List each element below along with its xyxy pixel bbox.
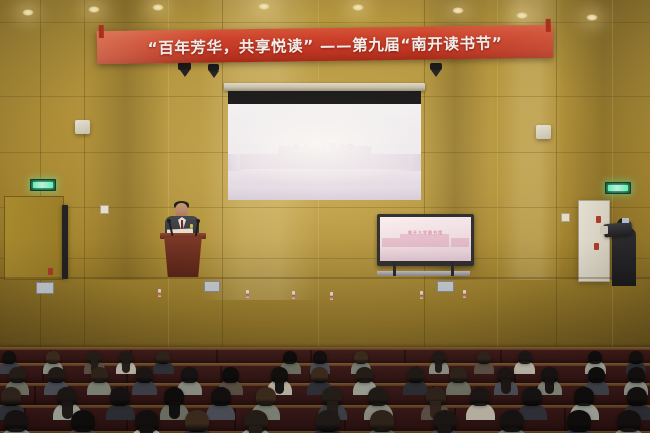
audience-member-head	[628, 367, 645, 383]
ceiling-downlight	[586, 14, 598, 21]
laptop	[36, 282, 54, 294]
audience-member-head	[450, 367, 467, 383]
water-bottle	[158, 289, 161, 297]
microphone-head	[167, 219, 171, 223]
audience-member-head	[311, 367, 328, 383]
monitor-image-building	[382, 238, 400, 247]
audience-member-hair	[122, 360, 130, 372]
audience-member-hair	[438, 426, 451, 433]
exit-sign-glow	[33, 182, 53, 188]
audience-member-hair	[435, 360, 443, 372]
camera-top-light	[622, 218, 629, 223]
ceiling-downlight	[516, 12, 528, 19]
auditorium-photo: “百年芳华，共享悦读” ——第九届“南开读书节” 南开大学图书馆 南开大学图书馆	[0, 0, 650, 433]
audience-member-head	[356, 367, 373, 383]
audience-member-head	[316, 410, 340, 433]
audience-seating	[0, 253, 650, 433]
audience-member-hair	[501, 379, 510, 394]
water-bottle	[330, 292, 333, 300]
laptop	[437, 281, 454, 292]
ceiling-downlight	[88, 6, 100, 13]
microphone-head	[196, 219, 200, 223]
event-banner: “百年芳华，共享悦读” ——第九届“南开读书节”	[97, 25, 553, 64]
audience-member-head	[283, 351, 297, 364]
audience-member-head	[627, 387, 647, 406]
exit-sign-glow	[608, 185, 628, 191]
audience-member-head	[2, 351, 16, 364]
audience-member-head	[629, 351, 643, 364]
screen-mask-band	[228, 91, 421, 104]
audience-member-head	[617, 410, 641, 433]
audience-member-head	[522, 387, 542, 406]
audience-member-head	[354, 351, 368, 364]
monitor-image-building	[451, 238, 469, 247]
wall-outlet	[561, 213, 570, 222]
water-bottle	[463, 290, 466, 298]
stage-spotlight	[178, 62, 191, 70]
banner-text: “百年芳华，共享悦读” ——第九届“南开读书节”	[97, 25, 553, 64]
monitor-overlay-title: 南开大学图书馆	[380, 230, 471, 236]
screen-surface: 南开大学图书馆	[228, 104, 421, 200]
audience-member-head	[574, 387, 594, 406]
audience-member-head	[9, 367, 26, 383]
stage-spotlight	[208, 64, 219, 71]
audience-member-head	[136, 367, 153, 383]
audience-member-head	[256, 387, 276, 406]
audience-member-head	[477, 351, 491, 364]
audience-member-head	[222, 367, 239, 383]
audience-member-head	[181, 367, 198, 383]
audience-member-head	[1, 387, 21, 406]
audience-member-hair	[169, 401, 180, 419]
audience-member-head	[368, 387, 388, 406]
wall-speaker-right	[536, 125, 551, 139]
audience-member-head	[4, 410, 28, 433]
ceiling-downlight	[152, 4, 164, 11]
audience-member-hair	[275, 379, 284, 394]
audience-member-head	[156, 351, 170, 364]
wall-seam-horizontal	[0, 207, 650, 208]
wall-seam-horizontal	[0, 22, 650, 23]
audience-member-hair	[545, 379, 554, 394]
camera-lens-hood	[600, 226, 608, 234]
ceiling-downlight	[22, 9, 34, 16]
audience-member-hair	[140, 426, 153, 433]
fire-extinguisher	[594, 243, 599, 250]
audience-member-head	[211, 387, 231, 406]
water-bottle	[420, 291, 423, 299]
audience-member-head	[185, 410, 209, 433]
laptop	[204, 281, 220, 292]
exit-sign-right	[605, 182, 631, 194]
seat-rail	[0, 347, 650, 350]
screen-glare	[228, 104, 421, 200]
audience-member-head	[588, 351, 602, 364]
audience-member-head	[313, 351, 327, 364]
audience-member-head	[470, 387, 490, 406]
screen-housing	[224, 83, 425, 91]
water-bottle	[292, 291, 295, 299]
exit-sign-left	[30, 179, 56, 191]
audience-member-head	[48, 367, 65, 383]
water-bottle	[246, 290, 249, 298]
ceiling-downlight	[452, 7, 464, 14]
fire-extinguisher	[596, 216, 601, 223]
audience-member-head	[407, 367, 424, 383]
audience-member-head	[110, 387, 130, 406]
audience-member-head	[370, 410, 394, 433]
audience-member-head	[588, 367, 605, 383]
audience-member-head	[518, 351, 532, 364]
projection-screen: 南开大学图书馆	[228, 83, 421, 200]
ceiling-downlight	[352, 4, 364, 11]
audience-member-head	[567, 410, 591, 433]
ceiling-downlight	[258, 3, 270, 10]
stage-spotlight	[430, 63, 442, 70]
seat-divider	[564, 408, 566, 433]
audience-member-head	[46, 351, 60, 364]
audience-member-head	[71, 410, 95, 433]
wall-outlet	[100, 205, 109, 214]
wall-speaker-left	[75, 120, 90, 134]
audience-member-head	[500, 410, 524, 433]
audience-member-head	[91, 367, 108, 383]
audience-member-hair	[249, 426, 262, 433]
